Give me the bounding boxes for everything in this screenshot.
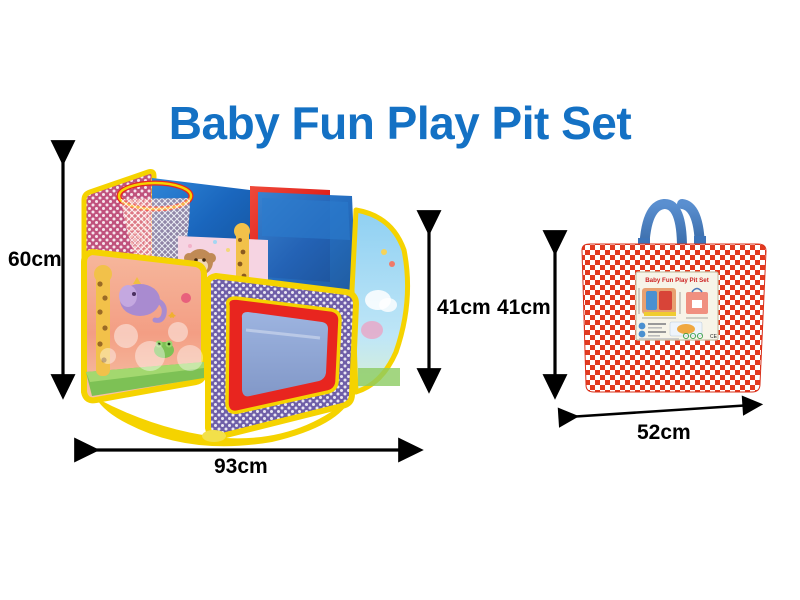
pit-right-sky-panel	[352, 210, 408, 392]
pit-inner-back-panel-left	[152, 178, 250, 272]
dimension-label-bag-width: 52cm	[637, 421, 691, 445]
basketball-hoop-icon	[119, 183, 191, 288]
dimension-arrow-bag-width	[568, 405, 752, 417]
pit-inner-red-panel	[250, 186, 330, 282]
bag-product-label: Baby Fun Play Pit Set	[636, 272, 718, 340]
product-artwork: Baby Fun Play Pit Set	[0, 0, 800, 600]
pit-inner-back-panel-right	[258, 192, 356, 292]
svg-text:CE: CE	[710, 334, 718, 340]
bag-body	[582, 244, 766, 392]
svg-text:Baby Fun Play Pit Set: Baby Fun Play Pit Set	[645, 277, 709, 284]
pit-inner-graphic-panel	[178, 223, 268, 296]
dimension-arrows	[0, 0, 800, 600]
carry-bag-illustration: Baby Fun Play Pit Set	[582, 204, 766, 392]
product-image-canvas: Baby Fun Play Pit Set	[0, 0, 800, 600]
pit-front-window-panel	[208, 276, 356, 437]
dimension-label-bag-height: 41cm	[497, 296, 551, 320]
bag-handles	[638, 204, 706, 264]
dimension-label-pit-width: 93cm	[214, 455, 268, 479]
page-title: Baby Fun Play Pit Set	[0, 96, 800, 150]
dimension-label-pit-height: 60cm	[8, 248, 62, 272]
pit-base-rim	[96, 396, 352, 446]
dimension-label-pit-depth: 41cm	[437, 296, 491, 320]
pit-left-graphic-panel	[84, 252, 204, 400]
play-pit-illustration	[84, 172, 408, 447]
pit-back-left-mesh-panel	[84, 172, 154, 301]
